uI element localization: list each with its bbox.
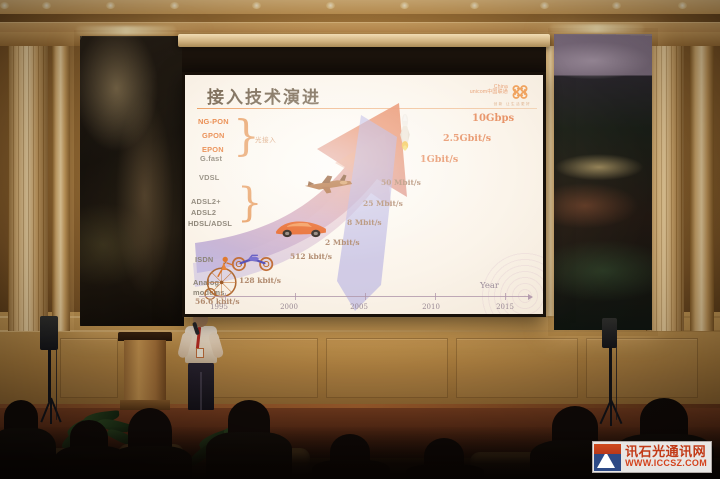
- rate-label-2_5gbits: 2.5Gbit/s: [443, 133, 491, 144]
- tech-label-gfast: G.fast: [200, 154, 222, 163]
- art-uplight: [550, 24, 644, 33]
- site-watermark: 讯石光通讯网 WWW.ICCSZ.COM: [592, 441, 712, 473]
- sports-car-icon: [273, 215, 329, 239]
- tech-label-vdsl: VDSL: [199, 173, 220, 182]
- rate-label-8mbits: 8 Mbit/s: [347, 218, 382, 227]
- axis-tick: [365, 293, 366, 300]
- penny-farthing-bicycle-icon: [203, 255, 243, 301]
- tech-label-ng-pon: NG-PON: [198, 117, 229, 126]
- projector-screen-masking: [182, 46, 546, 75]
- brace-copper: }: [237, 183, 262, 223]
- iccsz-logo-icon: [594, 444, 621, 471]
- rate-label-50mbits: 50 Mbit/s: [381, 178, 421, 187]
- wall-pilaster: [8, 46, 48, 331]
- tech-label-epon: EPON: [202, 145, 224, 154]
- pa-speaker-right: [596, 318, 636, 426]
- rate-label-512kbits: 512 kbit/s: [290, 252, 332, 261]
- ceiling-downlight: [678, 2, 687, 9]
- audience-body: [0, 428, 56, 479]
- presenter-badge: [196, 348, 204, 358]
- ceiling-downlight: [326, 2, 335, 9]
- tech-label-gpon: GPON: [202, 131, 225, 140]
- tech-label-hdsl-adsl: HDSL/ADSL: [188, 219, 232, 228]
- axis-tick: [295, 293, 296, 300]
- wall-pilaster: [690, 46, 714, 331]
- axis-tick-label-2010: 2010: [422, 303, 440, 311]
- axis-label-year: Year: [480, 281, 499, 291]
- ceiling-downlight: [252, 2, 261, 9]
- space-shuttle-icon: [397, 113, 413, 151]
- year-axis-arrowhead: [528, 294, 533, 300]
- axis-tick-label-2000: 2000: [280, 303, 298, 311]
- axis-tick: [435, 293, 436, 300]
- year-axis-line: [199, 296, 529, 297]
- audience-body: [110, 446, 192, 479]
- ceiling-downlight: [612, 2, 621, 9]
- ceiling-downlight: [470, 2, 479, 9]
- axis-tick-label-1995: 1995: [210, 303, 228, 311]
- rate-label-10gbps: 10Gbps: [472, 113, 514, 124]
- projection-screen: 接入技术演进 China unicom中国联通 创新 让生活更好: [182, 72, 546, 317]
- projector-screen-housing: [178, 34, 550, 47]
- tech-label-adsl2plus: ADSL2+: [191, 197, 221, 206]
- presenter: [178, 310, 224, 410]
- art-uplight: [76, 26, 176, 35]
- ceiling-downlight: [0, 2, 9, 9]
- rate-label-25mbits: 25 Mbit/s: [363, 199, 403, 208]
- axis-tick: [225, 293, 226, 300]
- audience-body: [206, 432, 292, 479]
- ceiling-downlight: [106, 2, 115, 9]
- ceiling-downlight: [400, 2, 409, 9]
- axis-tick: [505, 293, 506, 300]
- audience-body: [312, 460, 390, 479]
- wall-pilaster: [52, 46, 70, 331]
- axis-tick-label-2005: 2005: [350, 303, 368, 311]
- watermark-cn-text: 讯石光通讯网: [625, 445, 707, 459]
- tech-label-adsl2: ADSL2: [191, 208, 216, 217]
- rate-label-1gbits: 1Gbit/s: [420, 154, 458, 165]
- optical-access-label: 光接入: [255, 134, 276, 144]
- wall-art-panel-left: [74, 30, 190, 332]
- audience-body: [406, 464, 484, 479]
- wall-panel: [326, 338, 448, 398]
- screenshot-root: 接入技术演进 China unicom中国联通 创新 让生活更好: [0, 0, 720, 479]
- rate-label-128kbits: 128 kbit/s: [239, 276, 281, 285]
- wall-art-panel-right: [548, 28, 658, 336]
- presentation-slide: 接入技术演进 China unicom中国联通 创新 让生活更好: [185, 75, 543, 314]
- ceiling-downlight: [42, 2, 51, 9]
- wall-panel: [456, 338, 578, 398]
- fighter-jet-icon: [303, 171, 355, 197]
- watermark-url: WWW.ICCSZ.COM: [625, 459, 707, 468]
- ceiling-downlight: [540, 2, 549, 9]
- ceiling-downlight: [170, 2, 179, 9]
- rate-label-2mbits: 2 Mbit/s: [325, 238, 360, 247]
- axis-tick-label-2015: 2015: [496, 303, 514, 311]
